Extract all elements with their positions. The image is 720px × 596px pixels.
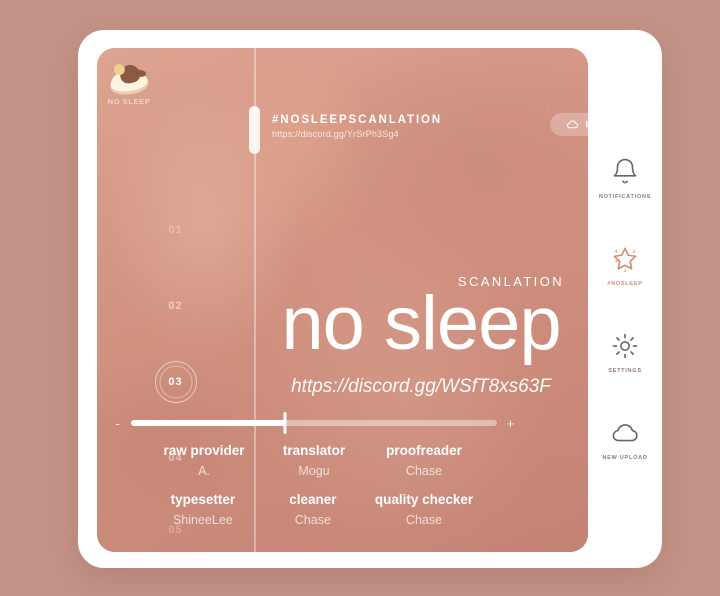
sidebar-item-label: NOTIFICATIONS [599, 194, 651, 200]
credit-quality-checker: quality checker Chase [375, 492, 473, 527]
zoom-slider[interactable]: - + [113, 412, 515, 434]
gear-icon [610, 331, 640, 361]
step-item-03[interactable]: 03 [97, 376, 254, 388]
content-panel: NO SLEEP #NOSLEEPSCANLATION https://disc… [97, 48, 588, 552]
credit-role: quality checker [375, 492, 473, 507]
credit-role: raw provider [156, 443, 252, 458]
slider-fill [131, 420, 285, 426]
credit-typesetter: typesetter ShineeLee [155, 492, 251, 527]
credit-name: Chase [265, 513, 361, 527]
credit-cleaner: cleaner Chase [265, 492, 361, 527]
slider-increase-button[interactable]: + [506, 416, 515, 431]
step-item-02[interactable]: 02 [97, 300, 254, 312]
sidebar-item-label: NEW UPLOAD [602, 455, 647, 461]
credit-name: Mogu [266, 464, 362, 478]
credit-name: A. [156, 464, 252, 478]
credits-section: raw provider A. translator Mogu proofrea… [113, 443, 515, 541]
star-icon [610, 244, 640, 274]
discord-invite-link[interactable]: https://discord.gg/WSfT8xs63F [291, 376, 551, 398]
slider-handle[interactable] [283, 412, 286, 434]
credit-raw-provider: raw provider A. [156, 443, 252, 478]
credit-role: cleaner [265, 492, 361, 507]
credit-role: translator [266, 443, 362, 458]
sleeping-critter-on-moon-icon [107, 64, 151, 96]
logo-label: NO SLEEP [108, 97, 151, 106]
page-title: no sleep [281, 288, 560, 360]
sidebar-item-notifications[interactable]: NOTIFICATIONS [588, 157, 662, 200]
step-item-01[interactable]: 01 [97, 224, 254, 236]
credit-name: Chase [376, 464, 472, 478]
slider-decrease-button[interactable]: - [113, 416, 122, 431]
credit-translator: translator Mogu [266, 443, 362, 478]
sidebar-item-nosleep[interactable]: #NOSLEEP [588, 244, 662, 287]
sidebar-item-settings[interactable]: SETTINGS [588, 331, 662, 374]
sidebar-item-label: #NOSLEEP [607, 281, 642, 287]
credit-role: proofreader [376, 443, 472, 458]
cloud-icon [610, 418, 640, 448]
sidebar-item-new-upload[interactable]: NEW UPLOAD [588, 418, 662, 461]
active-step-ring [155, 361, 197, 403]
credits-row: typesetter ShineeLee cleaner Chase quali… [113, 492, 515, 527]
credit-role: typesetter [155, 492, 251, 507]
brand-logo[interactable]: NO SLEEP [106, 60, 152, 106]
bell-icon [610, 157, 640, 187]
credits-row: raw provider A. translator Mogu proofrea… [113, 443, 515, 478]
right-sidebar: NOTIFICATIONS #NOSLEEP SETTINGS NEW UPLO… [588, 30, 662, 568]
credit-name: ShineeLee [155, 513, 251, 527]
sidebar-item-label: SETTINGS [608, 368, 642, 374]
app-card: NO SLEEP #NOSLEEPSCANLATION https://disc… [78, 30, 662, 568]
slider-track[interactable] [131, 420, 497, 426]
credit-proofreader: proofreader Chase [376, 443, 472, 478]
credit-name: Chase [375, 513, 473, 527]
